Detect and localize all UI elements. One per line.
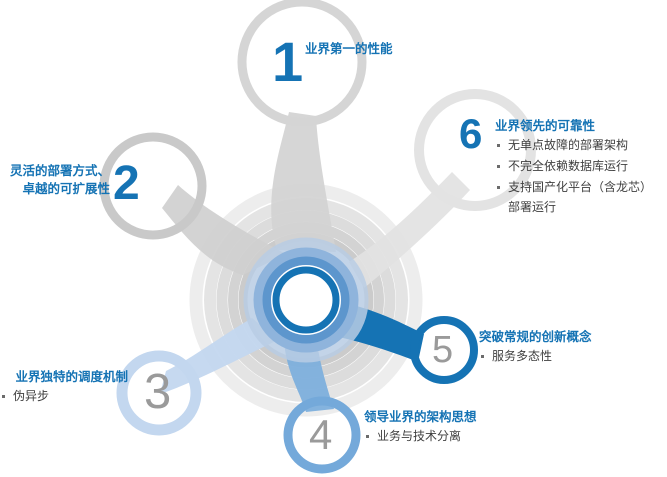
bullet-item: 无单点故障的部署架构 [495,135,652,156]
infographic-canvas: 1 2 3 4 5 6 业界第一的性能 灵活的部署方式、 卓越的可扩展性 业界独… [0,0,667,477]
bullet-item-continuation: 部署运行 [495,198,652,217]
callout-4: 领导业界的架构思想 业务与技术分离 [364,408,477,447]
callout-2: 灵活的部署方式、 卓越的可扩展性 [0,162,110,198]
node-numeral-6: 6 [459,113,482,155]
callout-3-title: 业界独特的调度机制 [0,368,128,386]
node-numeral-4: 4 [309,414,332,456]
callout-1-title: 业界第一的性能 [305,40,393,58]
callout-2-title-line1: 灵活的部署方式、 [0,162,110,180]
callout-2-title-line2: 卓越的可扩展性 [0,180,110,198]
callout-3: 业界独特的调度机制 伪异步 [0,368,128,407]
callout-5-bullets: 服务多态性 [479,346,592,367]
bullet-item: 不完全依赖数据库运行 [495,156,652,177]
callout-3-bullets: 伪异步 [0,386,128,407]
callout-6-bullets: 无单点故障的部署架构 不完全依赖数据库运行 支持国产化平台（含龙芯） 部署运行 [495,135,652,217]
node-numeral-3: 3 [144,368,171,417]
node-numeral-1: 1 [272,34,303,90]
callout-5: 突破常规的创新概念 服务多态性 [479,328,592,367]
hub-core [250,244,362,356]
node-numeral-2: 2 [113,160,140,208]
bullet-item: 伪异步 [0,386,128,407]
callout-5-title: 突破常规的创新概念 [479,328,592,346]
callout-4-title: 领导业界的架构思想 [364,408,477,426]
bullet-item: 支持国产化平台（含龙芯） [495,177,652,198]
callout-6: 业界领先的可靠性 无单点故障的部署架构 不完全依赖数据库运行 支持国产化平台（含… [495,117,652,217]
callout-1: 业界第一的性能 [305,40,393,58]
callout-4-bullets: 业务与技术分离 [364,426,477,447]
callout-6-title: 业界领先的可靠性 [495,117,652,135]
bullet-item: 服务多态性 [479,346,592,367]
bullet-item: 业务与技术分离 [364,426,477,447]
node-numeral-5: 5 [432,331,453,369]
